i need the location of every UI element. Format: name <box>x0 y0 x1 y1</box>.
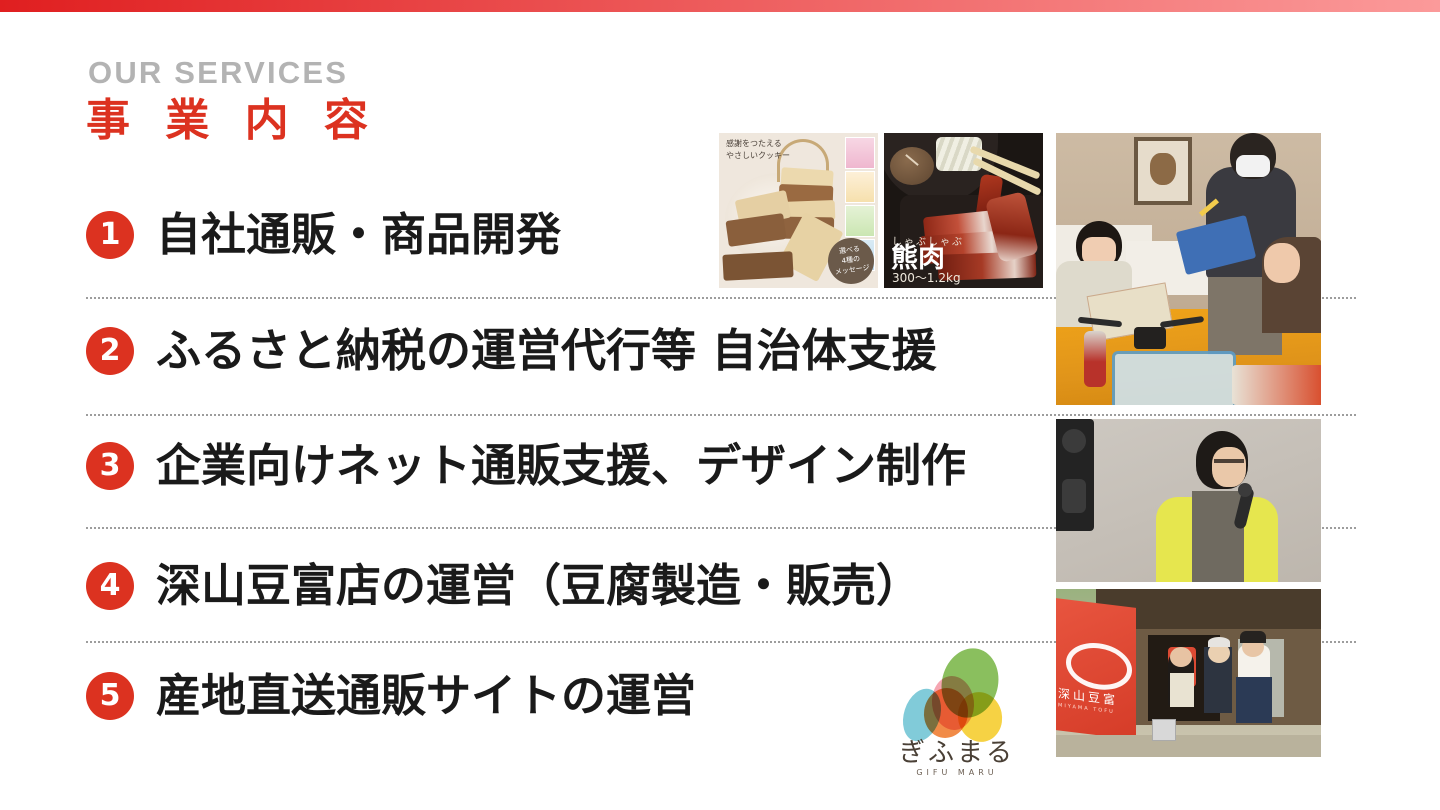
crate <box>1152 719 1176 741</box>
divider-2 <box>86 414 1356 416</box>
face-mask <box>1236 155 1270 177</box>
person-apron <box>1192 491 1244 582</box>
swatch-green <box>845 205 875 237</box>
page-eyebrow: OUR SERVICES <box>88 57 348 88</box>
meat-caption-weight: 300〜1.2kg <box>892 269 961 286</box>
store-banner: 深山豆富 MIYAMA TOFU <box>1056 598 1136 740</box>
person-hair <box>1208 637 1230 647</box>
bottle <box>1084 331 1106 387</box>
product-cookies-photo: 感謝をつたえる やさしいクッキー 選べる 4種の メッセージ <box>719 133 878 288</box>
service-item-4[interactable]: 4 深山豆富店の運営（豆腐製造・販売） <box>86 562 921 611</box>
badge-line3: メッセージ <box>834 263 870 276</box>
person-head <box>1170 647 1192 667</box>
workshop-meeting-photo <box>1056 133 1321 405</box>
service-item-1[interactable]: 1 自社通販・商品開発 <box>86 211 561 260</box>
service-number-badge: 1 <box>86 211 134 259</box>
person-cap <box>1240 631 1266 643</box>
service-item-5[interactable]: 5 産地直送通販サイトの運営 <box>86 672 696 721</box>
service-item-3[interactable]: 3 企業向けネット通販支援、デザイン制作 <box>86 442 966 491</box>
cookie-shape <box>722 251 793 281</box>
service-label: 自社通販・商品開発 <box>156 211 561 260</box>
swatch-cream <box>845 171 875 203</box>
service-item-2[interactable]: 2 ふるさと納税の運営代行等 自治体支援 <box>86 327 937 376</box>
badge-line2: 4種の <box>841 255 860 265</box>
page-title: 事 業 内 容 <box>86 96 378 147</box>
wall-frame <box>1134 137 1192 205</box>
service-number-badge: 3 <box>86 442 134 490</box>
slide-root: OUR SERVICES 事 業 内 容 感謝をつたえる やさしいクッキー 選べ… <box>0 0 1440 810</box>
logo-name-jp: ぎふまる <box>898 740 1016 766</box>
cookies-caption: 感謝をつたえる やさしいクッキー <box>726 138 790 162</box>
service-label: 深山豆富店の運営（豆腐製造・販売） <box>156 562 921 611</box>
product-bear-meat-photo: しゃぶしゃぶ 熊肉 300〜1.2kg <box>884 133 1043 288</box>
badge-text: 選べる 4種の メッセージ <box>832 244 871 278</box>
person-face <box>1212 447 1246 487</box>
person-apron <box>1170 673 1194 707</box>
gifu-maru-logo: ぎふまる GIFU MARU <box>898 648 1016 778</box>
cookies-caption-line1: 感謝をつたえる <box>726 138 790 150</box>
plastic-bag <box>1112 351 1236 405</box>
speaker-driver <box>1062 429 1086 453</box>
eyeglasses <box>1214 459 1244 463</box>
seminar-speaker-photo <box>1056 419 1321 582</box>
service-label: 産地直送通販サイトの運営 <box>156 672 696 721</box>
meat-caption-large: 熊肉 <box>891 245 945 272</box>
service-label: ふるさと納税の運営代行等 自治体支援 <box>156 327 937 376</box>
package <box>1232 365 1321 405</box>
top-accent-bar <box>0 0 1440 12</box>
logo-name-en: GIFU MARU <box>898 768 1016 777</box>
speaker-driver <box>1062 479 1086 513</box>
service-label: 企業向けネット通販支援、デザイン制作 <box>156 442 966 491</box>
smartphone <box>1134 327 1166 349</box>
person-apron <box>1236 677 1272 723</box>
person-face <box>1264 243 1300 283</box>
ground <box>1056 735 1321 757</box>
microphone-head <box>1238 483 1252 497</box>
frame-art <box>1150 153 1176 185</box>
banner-knot-logo <box>1066 639 1132 693</box>
swatch-pink <box>845 137 875 169</box>
service-number-badge: 2 <box>86 327 134 375</box>
mushroom-shape <box>890 147 934 185</box>
service-number-badge: 4 <box>86 562 134 610</box>
miyama-tofu-storefront-photo: 深山豆富 MIYAMA TOFU <box>1056 589 1321 757</box>
service-number-badge: 5 <box>86 672 134 720</box>
cookies-caption-line2: やさしいクッキー <box>726 150 790 162</box>
